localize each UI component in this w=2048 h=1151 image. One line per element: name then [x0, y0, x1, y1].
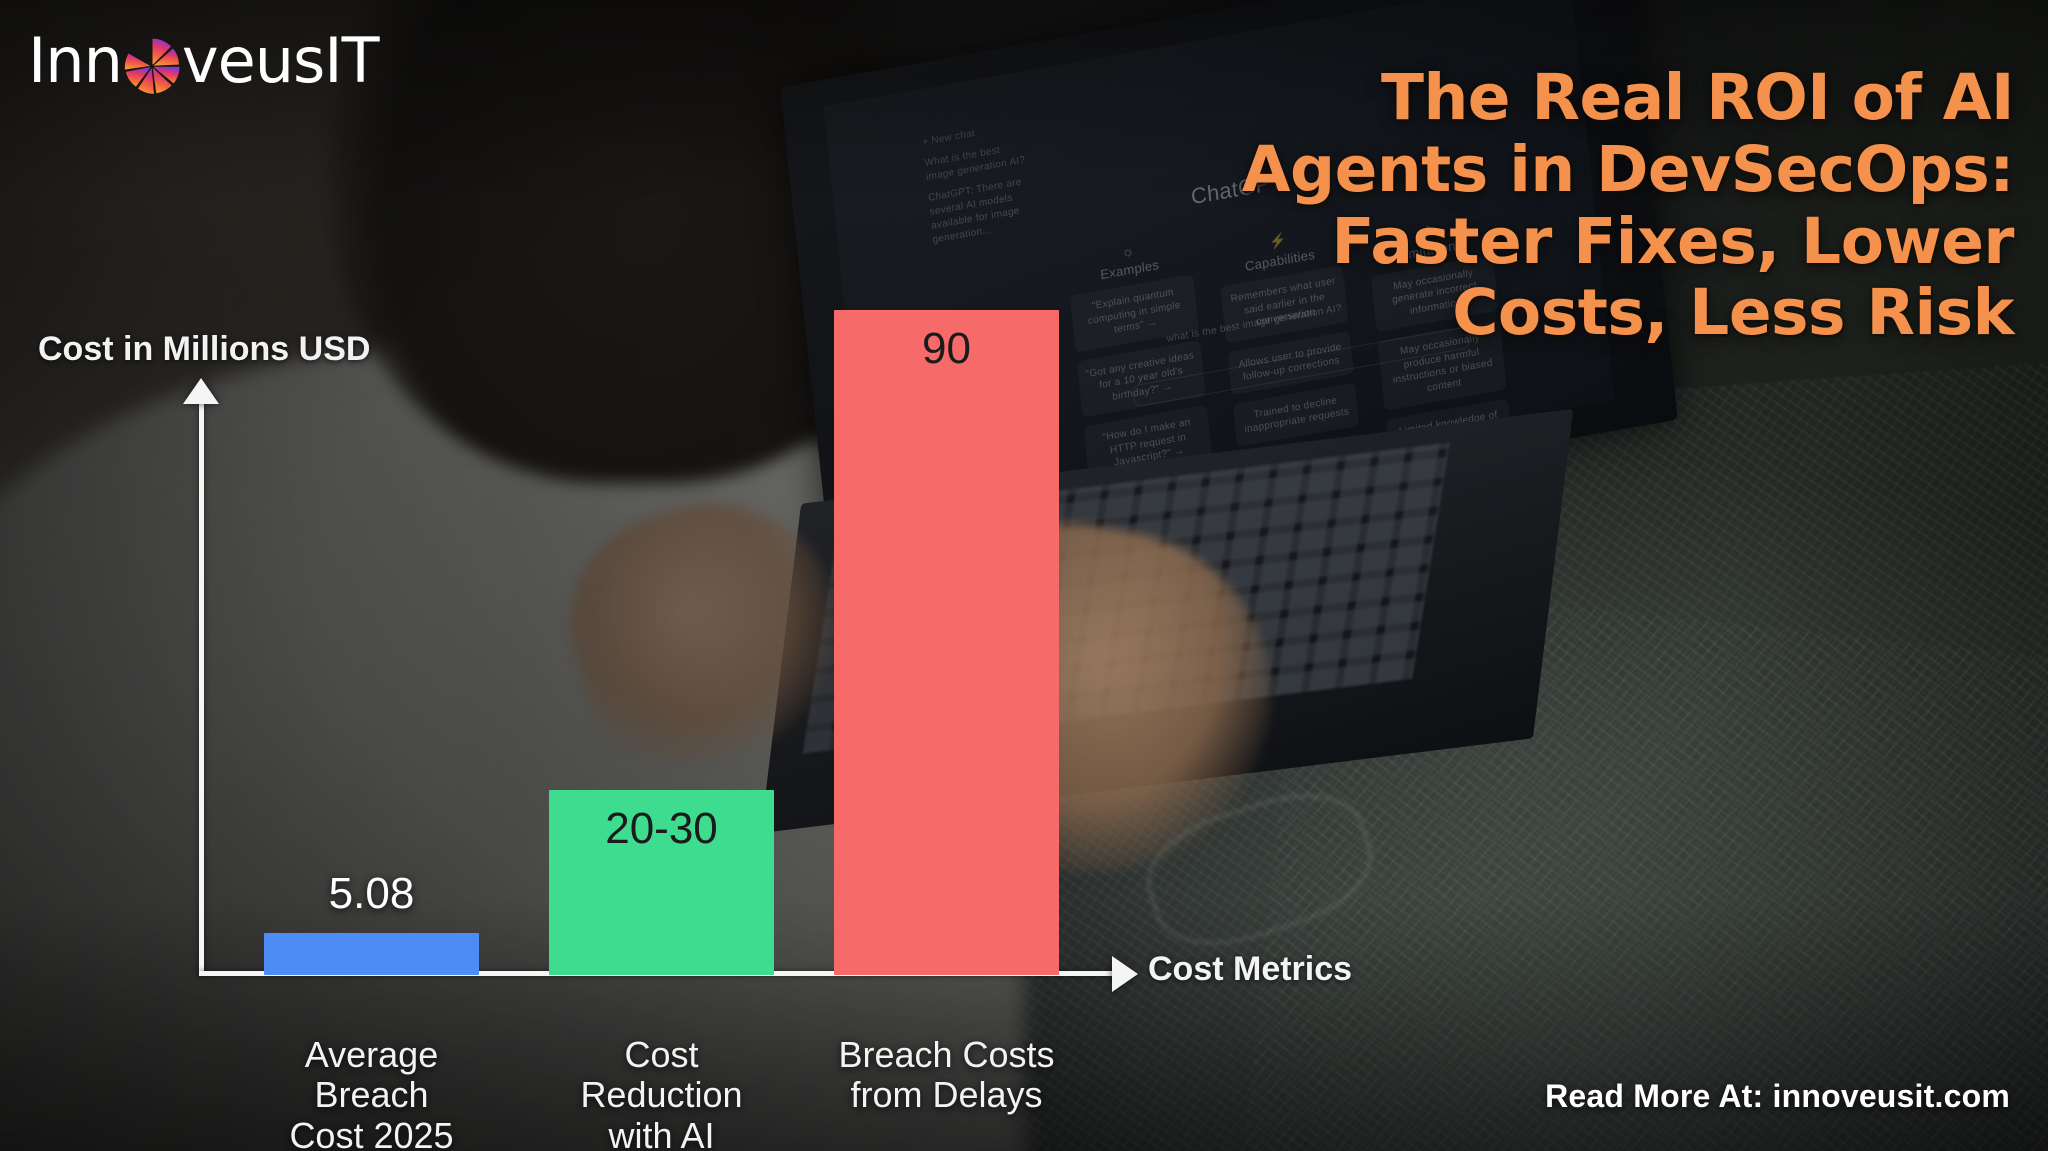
bar-value-label: 5.08: [264, 869, 479, 919]
footer-cta: Read More At: innoveusit.com: [1545, 1078, 2010, 1115]
bar-value-label: 20-30: [549, 804, 774, 854]
bar-category-label: Average Breach Cost 2025: [264, 1035, 479, 1151]
bar-rect[interactable]: [264, 933, 479, 975]
bar-rect[interactable]: [834, 310, 1059, 975]
y-axis-arrow-icon: [183, 378, 219, 404]
bar-chart: Cost in Millions USD Cost Metrics 5.08Av…: [0, 0, 1200, 1151]
x-axis-arrow-icon: [1112, 956, 1138, 992]
page-title: The Real ROI of AI Agents in DevSecOps: …: [1204, 62, 2014, 349]
bar-value-label: 90: [834, 324, 1059, 374]
x-axis-label: Cost Metrics: [1148, 950, 1352, 989]
bar-category-label: Cost Reduction with AI Agents: [549, 1035, 774, 1151]
bar-category-label: Breach Costs from Delays: [834, 1035, 1059, 1116]
y-axis-label: Cost in Millions USD: [38, 330, 370, 369]
y-axis-line: [199, 390, 204, 975]
poster-canvas: + New chat What is the best image genera…: [0, 0, 2048, 1151]
